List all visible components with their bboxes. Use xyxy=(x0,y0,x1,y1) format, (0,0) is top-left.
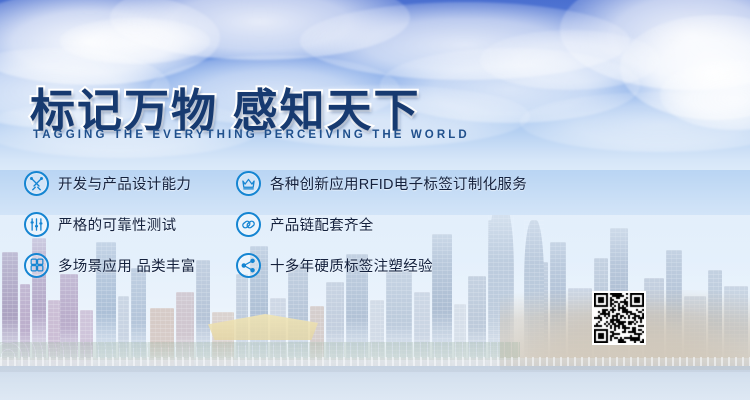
qr-code[interactable] xyxy=(592,291,646,345)
crown-icon xyxy=(236,171,261,196)
list-item: 开发与产品设计能力 xyxy=(24,166,196,200)
list-item: 各种创新应用RFID电子标签订制化服务 xyxy=(236,166,527,200)
railing xyxy=(0,357,750,366)
grid-squares-icon xyxy=(24,253,49,278)
list-item: 严格的可靠性测试 xyxy=(24,207,196,241)
crossed-tools-icon xyxy=(24,171,49,196)
chain-link-icon xyxy=(236,212,261,237)
feature-column-right: 各种创新应用RFID电子标签订制化服务 产品链配套齐全 xyxy=(236,166,527,289)
water xyxy=(0,366,750,400)
feature-label: 产品链配套齐全 xyxy=(270,214,374,235)
feature-label: 十多年硬质标签注塑经验 xyxy=(270,255,433,276)
feature-label: 开发与产品设计能力 xyxy=(58,173,191,194)
feature-label: 各种创新应用RFID电子标签订制化服务 xyxy=(270,173,527,194)
list-item: 产品链配套齐全 xyxy=(236,207,527,241)
promo-banner: 标记万物 感知天下 TAGGING THE EVERYTHING PERCEIV… xyxy=(0,0,750,400)
cloud xyxy=(480,30,660,90)
feature-column-left: 开发与产品设计能力 严格的可靠性测试 xyxy=(24,166,196,289)
share-network-icon xyxy=(236,253,261,278)
cloud xyxy=(60,18,210,64)
feature-label: 严格的可靠性测试 xyxy=(58,214,176,235)
list-item: 十多年硬质标签注塑经验 xyxy=(236,248,527,282)
headline-subtitle: TAGGING THE EVERYTHING PERCEIVING THE WO… xyxy=(33,129,470,141)
feature-label: 多场景应用 品类丰富 xyxy=(58,255,196,276)
equalizer-sliders-icon xyxy=(24,212,49,237)
list-item: 多场景应用 品类丰富 xyxy=(24,248,196,282)
